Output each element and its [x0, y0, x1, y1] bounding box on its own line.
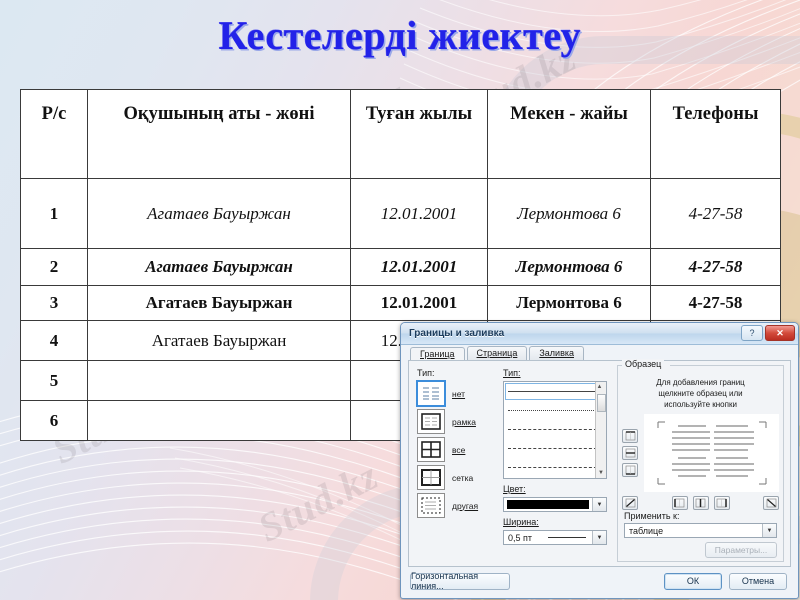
ok-button[interactable]: ОК [664, 573, 722, 590]
border-type-custom[interactable]: другая [417, 493, 495, 518]
row-number: 1 [21, 179, 88, 249]
border-sample-preview[interactable] [644, 414, 779, 492]
watermark: Stud.kz [250, 451, 386, 551]
cell-name [88, 361, 351, 401]
border-none-label: нет [452, 389, 465, 399]
dialog-window-buttons: ? ✕ [741, 325, 795, 341]
border-left-button[interactable] [672, 496, 688, 510]
chevron-down-icon[interactable]: ▼ [592, 498, 606, 511]
apply-to-combobox[interactable]: таблице ▼ [624, 523, 777, 538]
border-top-button[interactable] [622, 429, 638, 443]
options-button[interactable]: Параметры... [705, 542, 777, 558]
border-bottom-button[interactable] [622, 463, 638, 477]
cell-address: Лермонтова 6 [488, 179, 651, 249]
row-number: 6 [21, 401, 88, 441]
line-style-option-dashed[interactable] [504, 420, 606, 439]
tab-stranica-label: Страница [477, 348, 518, 358]
border-tab-panel: Тип: нет [408, 360, 791, 567]
border-none-icon[interactable] [417, 381, 445, 406]
dialog-tabs: Граница Страница Заливка [404, 346, 795, 361]
tab-stranica[interactable]: Страница [467, 346, 528, 361]
row-number: 5 [21, 361, 88, 401]
cell-phone: 4-27-58 [651, 286, 781, 321]
sample-diagram [648, 416, 776, 490]
close-icon[interactable]: ✕ [765, 325, 795, 341]
border-type-all[interactable]: все [417, 437, 495, 462]
cancel-button[interactable]: Отмена [729, 573, 787, 590]
cell-name: Агатаев Бауыржан [88, 286, 351, 321]
table-header-cell: Р/с [21, 90, 88, 179]
scroll-down-icon[interactable]: ▼ [598, 468, 604, 478]
horizontal-line-button[interactable]: Горизонтальная линия... [410, 573, 510, 590]
tab-zalivka[interactable]: Заливка [529, 346, 584, 361]
width-field: Ширина: 0,5 пт ▼ [503, 517, 607, 545]
row-number: 3 [21, 286, 88, 321]
border-custom-label: другая [452, 501, 478, 511]
line-style-option-solid[interactable] [504, 382, 606, 401]
borders-and-shading-dialog[interactable]: Границы и заливка ? ✕ Граница Страница З… [400, 322, 799, 599]
table-header-cell: Мекен - жайы [488, 90, 651, 179]
apply-to-value: таблице [625, 526, 762, 536]
color-swatch [507, 500, 589, 509]
line-style-label: Тип: [503, 368, 607, 378]
help-icon[interactable]: ? [741, 325, 763, 341]
dialog-title: Границы и заливка [409, 328, 504, 339]
sample-hint-line3: используйте кнопки [628, 399, 773, 410]
border-type-none[interactable]: нет [417, 381, 495, 406]
apply-to-section: Применить к: таблице ▼ Параметры... [624, 511, 777, 558]
border-middle-vertical-button[interactable] [693, 496, 709, 510]
color-label: Цвет: [503, 484, 607, 494]
cell-name: Агатаев Бауыржан [88, 179, 351, 249]
sample-column: Образец Для добавления границ щелкните о… [611, 361, 790, 566]
color-field: Цвет: ▼ [503, 484, 607, 512]
table-row: 3 Агатаев Бауыржан 12.01.2001 Лермонтова… [21, 286, 781, 321]
cell-phone: 4-27-58 [651, 179, 781, 249]
width-preview-line [548, 537, 586, 538]
border-diagonal-down-button[interactable] [622, 496, 638, 510]
cell-birth: 12.01.2001 [351, 249, 488, 286]
border-box-icon[interactable] [417, 409, 445, 434]
border-type-list: нет [417, 381, 495, 518]
tab-zalivka-label: Заливка [539, 348, 574, 358]
table-row: 1 Агатаев Бауыржан 12.01.2001 Лермонтова… [21, 179, 781, 249]
border-custom-icon[interactable] [417, 493, 445, 518]
dialog-footer: Горизонтальная линия... ОК Отмена [408, 569, 791, 593]
line-style-column: Тип: [499, 361, 611, 566]
cell-name [88, 401, 351, 441]
chevron-down-icon[interactable]: ▼ [762, 524, 776, 537]
border-type-column: Тип: нет [409, 361, 499, 566]
border-grid-label: сетка [452, 473, 473, 483]
tab-granica-label: Граница [420, 349, 455, 359]
cell-phone: 4-27-58 [651, 249, 781, 286]
width-label: Ширина: [503, 517, 607, 527]
sample-preview-area [618, 412, 783, 492]
sample-hint: Для добавления границ щелкните образец и… [618, 369, 783, 412]
border-type-grid[interactable]: сетка [417, 465, 495, 490]
scrollbar-thumb[interactable] [597, 394, 606, 412]
table-header-cell: Туған жылы [351, 90, 488, 179]
cell-address: Лермонтова 6 [488, 249, 651, 286]
border-all-icon[interactable] [417, 437, 445, 462]
chevron-down-icon[interactable]: ▼ [592, 531, 606, 544]
page-title: Кестелерді жиектеу [0, 12, 800, 59]
dialog-title-bar[interactable]: Границы и заливка ? ✕ [401, 323, 798, 345]
vertical-border-buttons [618, 492, 783, 510]
sample-hint-line2: щелкните образец или [628, 388, 773, 399]
cell-name: Агатаев Бауыржан [88, 249, 351, 286]
apply-to-label: Применить к: [624, 511, 777, 521]
line-style-scrollbar[interactable]: ▲ ▼ [595, 382, 606, 478]
border-grid-icon[interactable] [417, 465, 445, 490]
table-row: 2 Агатаев Бауыржан 12.01.2001 Лермонтова… [21, 249, 781, 286]
sample-legend: Образец [622, 359, 664, 369]
border-all-label: все [452, 445, 465, 455]
horizontal-border-buttons [622, 429, 638, 477]
width-combobox[interactable]: 0,5 пт ▼ [503, 530, 607, 545]
cell-birth: 12.01.2001 [351, 179, 488, 249]
border-type-box[interactable]: рамка [417, 409, 495, 434]
table-header-cell: Оқушының аты - жөні [88, 90, 351, 179]
border-right-button[interactable] [714, 496, 730, 510]
line-style-option-dash-dot-dot[interactable] [504, 458, 606, 477]
color-combobox[interactable]: ▼ [503, 497, 607, 512]
width-value: 0,5 пт [504, 533, 546, 543]
row-number: 2 [21, 249, 88, 286]
line-style-option-dashed-fine[interactable] [504, 401, 606, 420]
sample-hint-line1: Для добавления границ [628, 377, 773, 388]
border-box-label: рамка [452, 417, 476, 427]
cell-birth: 12.01.2001 [351, 286, 488, 321]
line-style-option-dash-dot[interactable] [504, 439, 606, 458]
cell-address: Лермонтова 6 [488, 286, 651, 321]
border-middle-horizontal-button[interactable] [622, 446, 638, 460]
table-header-cell: Телефоны [651, 90, 781, 179]
scroll-up-icon[interactable]: ▲ [597, 382, 606, 392]
cell-name: Агатаев Бауыржан [88, 321, 351, 361]
sample-groupbox: Образец Для добавления границ щелкните о… [617, 365, 784, 562]
border-diagonal-up-button[interactable] [763, 496, 779, 510]
line-style-listbox[interactable]: ▲ ▼ [503, 381, 607, 479]
border-type-label: Тип: [417, 368, 495, 378]
table-header-row: Р/с Оқушының аты - жөні Туған жылы Мекен… [21, 90, 781, 179]
row-number: 4 [21, 321, 88, 361]
